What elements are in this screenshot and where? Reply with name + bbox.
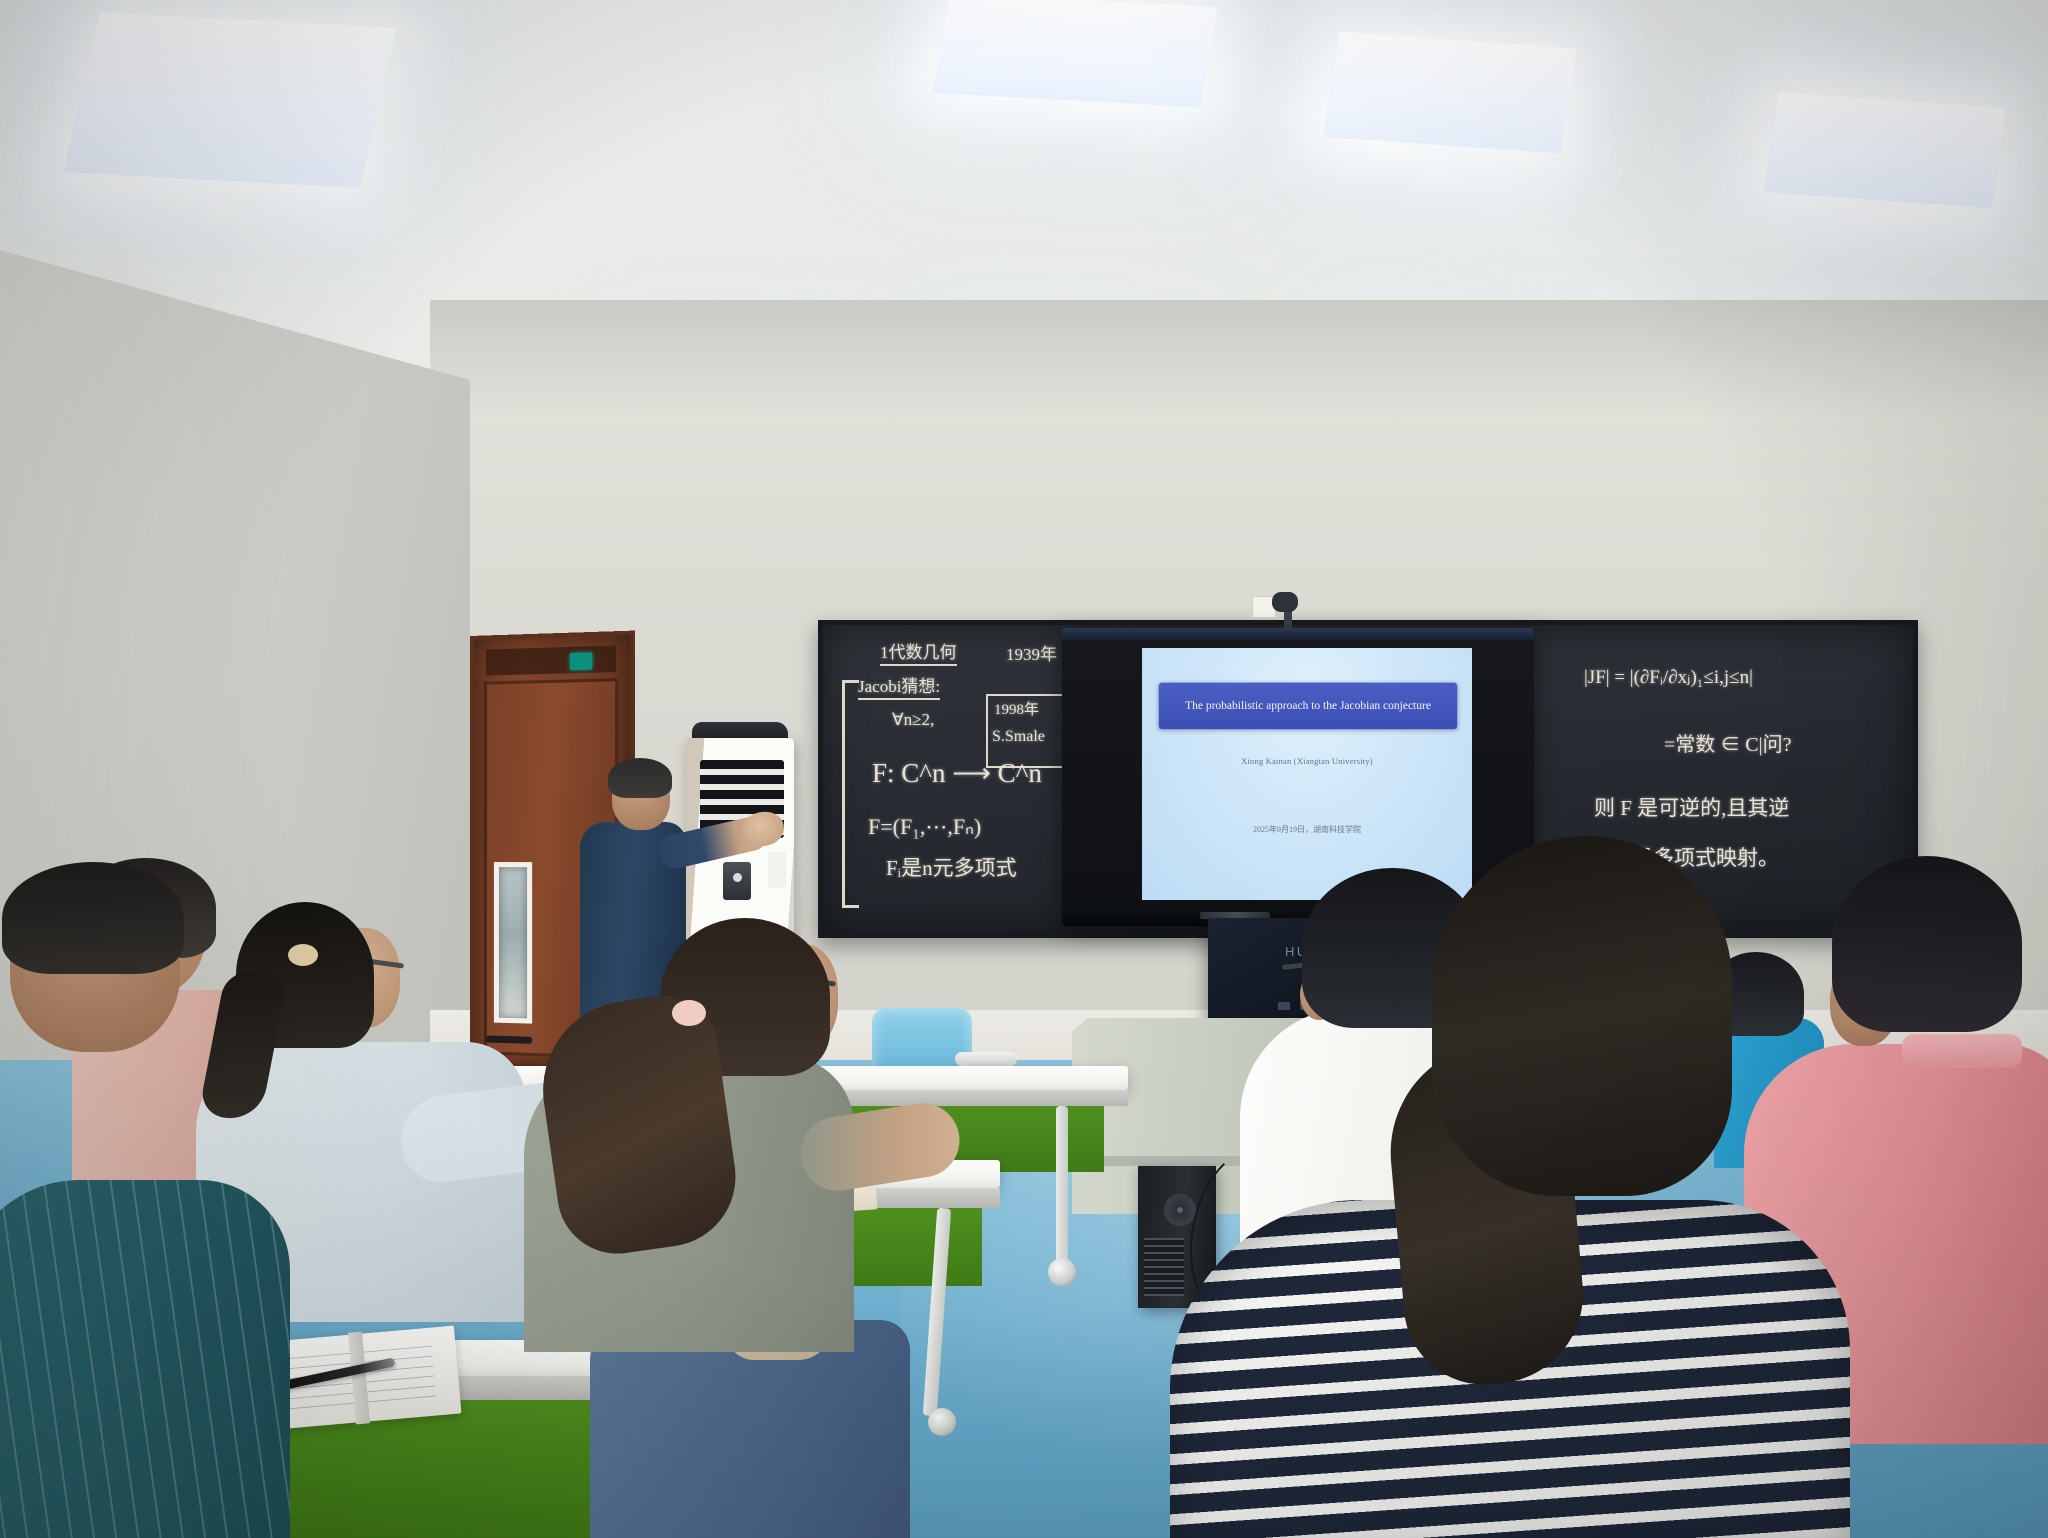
table-back-leg-right bbox=[1056, 1106, 1068, 1264]
pink-polo-hair bbox=[1832, 856, 2022, 1032]
slide-date: 2025年9月19日，湖南科技学院 bbox=[1142, 824, 1472, 835]
chalk-line-8: Fᵢ是n元多项式 bbox=[886, 852, 1017, 882]
exit-sign-icon bbox=[570, 652, 593, 670]
chalk-right-line-2: 则 F 是可逆的,且其逆 bbox=[1594, 792, 1789, 822]
chalk-line-2: Jacobi猜想: bbox=[858, 672, 940, 700]
chalk-line-4: S.Smale bbox=[992, 728, 1045, 746]
pink-polo-collar bbox=[1902, 1034, 2022, 1068]
pc-fan-icon bbox=[1164, 1194, 1196, 1226]
ac-power-icon bbox=[733, 873, 742, 882]
table-mid-caster bbox=[928, 1408, 956, 1436]
ceiling-light-4 bbox=[1764, 92, 2006, 208]
chalk-right-line-1: =常数 ∈ C|问? bbox=[1664, 728, 1792, 757]
lecturer-hair bbox=[608, 758, 672, 798]
chalk-line-7: F=(F₁,⋯,Fₙ) bbox=[868, 814, 981, 840]
presentation-slide: The probabilistic approach to the Jacobi… bbox=[1142, 648, 1472, 900]
chalk-line-3: 1998年 bbox=[994, 698, 1039, 719]
pc-expansion-slots bbox=[1144, 1238, 1184, 1296]
hair-tie bbox=[288, 944, 318, 966]
chalk-line-1: 1939年 bbox=[1006, 640, 1057, 665]
slide-title-box: The probabilistic approach to the Jacobi… bbox=[1158, 682, 1458, 730]
chalk-right-line-0: |JF| = |(∂Fᵢ/∂xⱼ)₁≤i,j≤n| bbox=[1584, 666, 1753, 689]
ceiling-light-3 bbox=[1323, 32, 1577, 154]
wall-shading bbox=[430, 300, 2048, 420]
table-back-caster bbox=[1048, 1258, 1076, 1286]
chalk-line-0: 1代数几何 bbox=[880, 638, 957, 666]
door-handle[interactable] bbox=[486, 1035, 532, 1043]
door-window bbox=[494, 862, 532, 1024]
door-top-recess bbox=[486, 645, 616, 675]
hair-tie bbox=[672, 1000, 706, 1026]
wall-camera-icon bbox=[1272, 592, 1298, 612]
slide-title: The probabilistic approach to the Jacobi… bbox=[1175, 699, 1441, 713]
classroom-photo: 1代数几何 1939年 Jacobi猜想: 1998年 S.Smale ∀n≥2… bbox=[0, 0, 2048, 1538]
blackboard-left-writing: 1代数几何 1939年 Jacobi猜想: 1998年 S.Smale ∀n≥2… bbox=[836, 636, 1098, 928]
teal-stripe-hair bbox=[2, 862, 184, 974]
teal-stripe-torso bbox=[0, 1180, 290, 1538]
striped-shirt-hair bbox=[1432, 836, 1732, 1196]
ceiling-light-1 bbox=[63, 12, 396, 188]
chalk-line-6: F: C^n ⟶ C^n bbox=[872, 758, 1042, 789]
chalk-bracket bbox=[842, 680, 859, 908]
chalk-line-5: ∀n≥2, bbox=[892, 710, 934, 730]
display-top-bezel bbox=[1062, 628, 1534, 640]
ac-label-sticker bbox=[768, 852, 786, 888]
ceiling-light-2 bbox=[932, 0, 1217, 107]
slide-author: Xiong Kainan (Xiangtan University) bbox=[1142, 756, 1472, 766]
